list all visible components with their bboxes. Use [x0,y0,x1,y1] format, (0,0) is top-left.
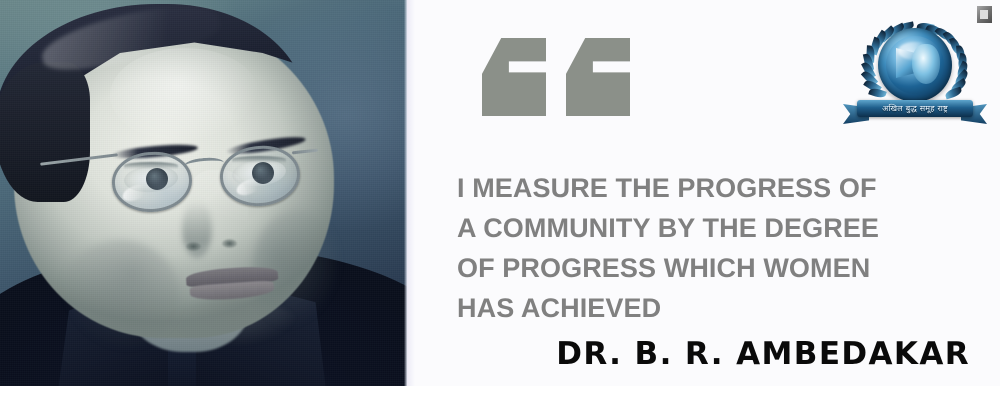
attribution-name: DR. B. R. AMBEDAKAR [0,336,970,372]
emblem-gloss-highlight [898,42,932,60]
panel-edge-tint [407,0,415,386]
quote-line-2: A COMMUNITY BY THE DEGREE [457,208,927,248]
quote-line-3: OF PROGRESS WHICH WOMEN [457,248,927,288]
quote-text: I MEASURE THE PROGRESS OF A COMMUNITY BY… [457,168,927,328]
emblem-banner: अखिल बुद्ध समूह राष्ट्र [843,96,987,130]
portrait-photo [0,0,407,386]
emblem-inner-disc [886,36,944,94]
laurel-wreath-emblem-icon: अखिल बुद्ध समूह राष्ट्र [843,16,987,132]
double-quote-icon [482,38,630,116]
quote-line-4: HAS ACHIEVED [457,288,927,328]
photo-grain-overlay [0,0,407,386]
quote-poster: I MEASURE THE PROGRESS OF A COMMUNITY BY… [0,0,1000,400]
quote-glyph-second [566,38,630,116]
corner-artifact-icon [977,6,992,23]
emblem-disc [878,28,952,102]
quote-glyph-first [482,38,546,116]
banner-text: अखिल बुद्ध समूह राष्ट्र [857,101,973,116]
quote-line-1: I MEASURE THE PROGRESS OF [457,168,927,208]
